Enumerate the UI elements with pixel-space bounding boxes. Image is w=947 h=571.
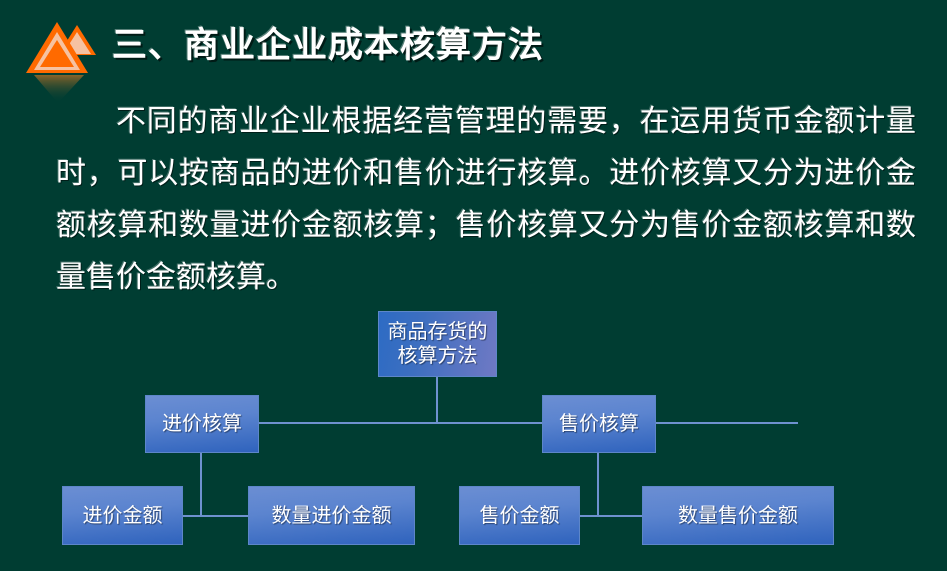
diagram-node-purchase-amount[interactable]: 进价金额 (62, 486, 183, 545)
connector-root-vertical (436, 377, 438, 424)
connector-level2-horizontal (201, 422, 798, 424)
diagram-node-purchase-amount-label: 进价金额 (83, 504, 163, 528)
slide-canvas: 三、商业企业成本核算方法 不同的商业企业根据经营管理的需要，在运用货币金额计量时… (0, 0, 947, 571)
diagram-node-qty-selling-amount[interactable]: 数量售价金额 (642, 486, 834, 545)
diagram-node-selling-costing[interactable]: 售价核算 (542, 395, 656, 453)
inventory-costing-diagram: 商品存货的 核算方法 进价核算 售价核算 进价金额 数量进价金额 售价金额 数量… (0, 0, 947, 571)
diagram-node-qty-selling-amount-label: 数量售价金额 (678, 504, 798, 528)
connector-right-branch-vertical (597, 453, 599, 516)
diagram-node-qty-purchase-amount-label: 数量进价金额 (272, 504, 392, 528)
connector-left-leaves-horizontal (183, 515, 248, 517)
diagram-node-selling-amount-label: 售价金额 (480, 504, 560, 528)
connector-left-branch-vertical (200, 453, 202, 516)
diagram-node-root[interactable]: 商品存货的 核算方法 (378, 311, 497, 377)
diagram-node-qty-purchase-amount[interactable]: 数量进价金额 (248, 486, 415, 545)
diagram-node-purchase-costing-label: 进价核算 (162, 412, 242, 436)
diagram-node-root-line1: 商品存货的 (388, 320, 488, 344)
diagram-node-selling-costing-label: 售价核算 (559, 412, 639, 436)
diagram-node-selling-amount[interactable]: 售价金额 (459, 486, 580, 545)
connector-right-leaves-horizontal (580, 515, 642, 517)
diagram-node-root-line2: 核算方法 (398, 344, 478, 368)
diagram-node-purchase-costing[interactable]: 进价核算 (145, 395, 259, 453)
